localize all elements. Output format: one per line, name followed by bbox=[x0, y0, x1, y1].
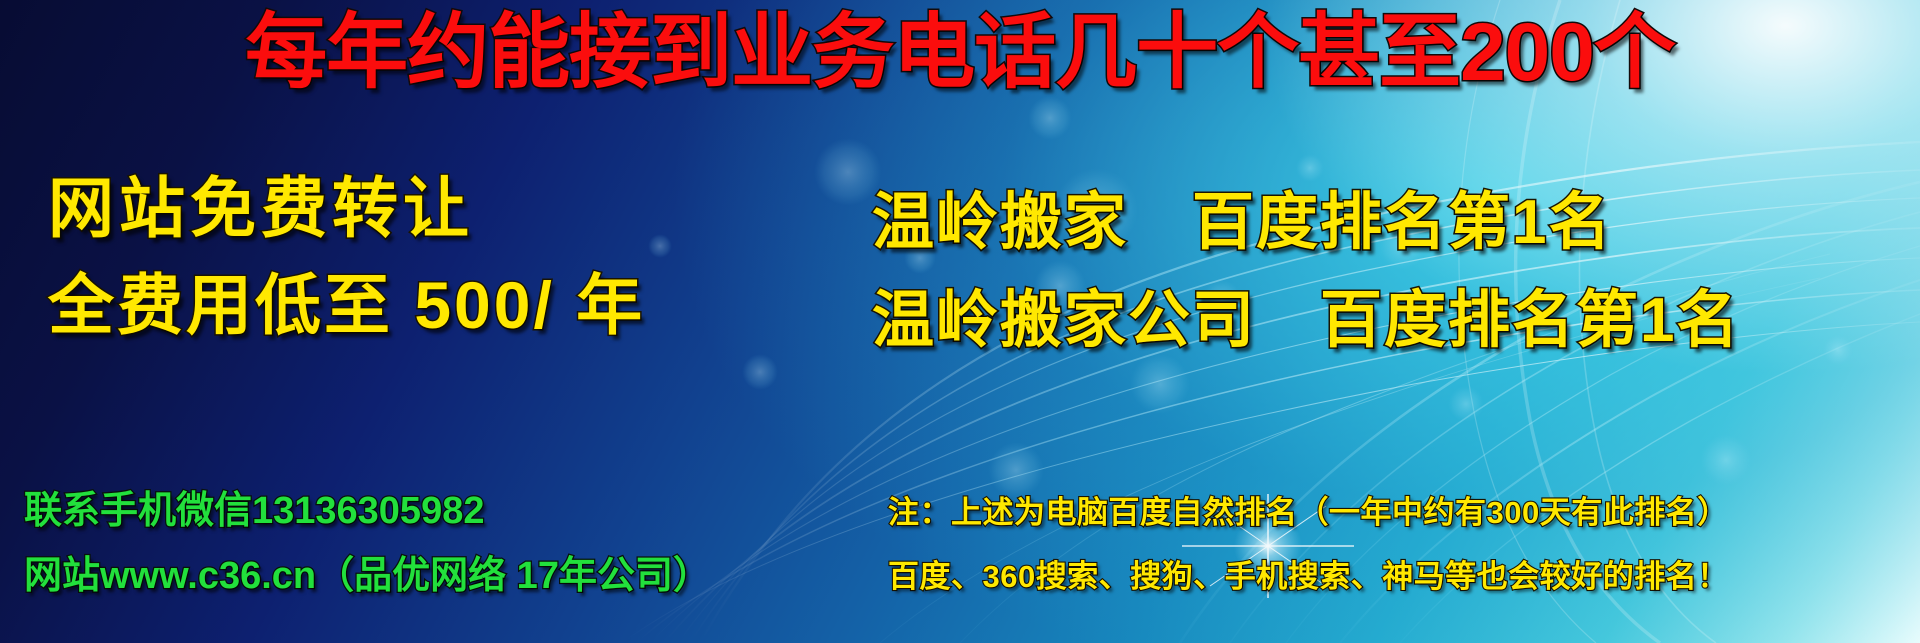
promo-banner: 每年约能接到业务电话几十个甚至200个 网站免费转让 全费用低至 500/ 年 … bbox=[0, 0, 1920, 643]
contact-phone-wechat[interactable]: 联系手机微信13136305982 bbox=[24, 492, 484, 530]
ranking-row-2: 温岭搬家公司 百度排名第1名 bbox=[872, 290, 1740, 352]
note-line-2: 百度、360搜索、搜狗、手机搜索、神马等也会较好的排名！ bbox=[888, 561, 1729, 592]
note-line-1: 注：上述为电脑百度自然排名（一年中约有300天有此排名） bbox=[888, 497, 1729, 528]
contact-website[interactable]: 网站www.c36.cn（品优网络 17年公司） bbox=[24, 557, 711, 595]
offer-line-price: 全费用低至 500/ 年 bbox=[48, 272, 645, 338]
page-title: 每年约能接到业务电话几十个甚至200个 bbox=[0, 12, 1920, 94]
ranking-row-1: 温岭搬家 百度排名第1名 bbox=[872, 192, 1612, 254]
offer-line-transfer: 网站免费转让 bbox=[48, 175, 474, 241]
